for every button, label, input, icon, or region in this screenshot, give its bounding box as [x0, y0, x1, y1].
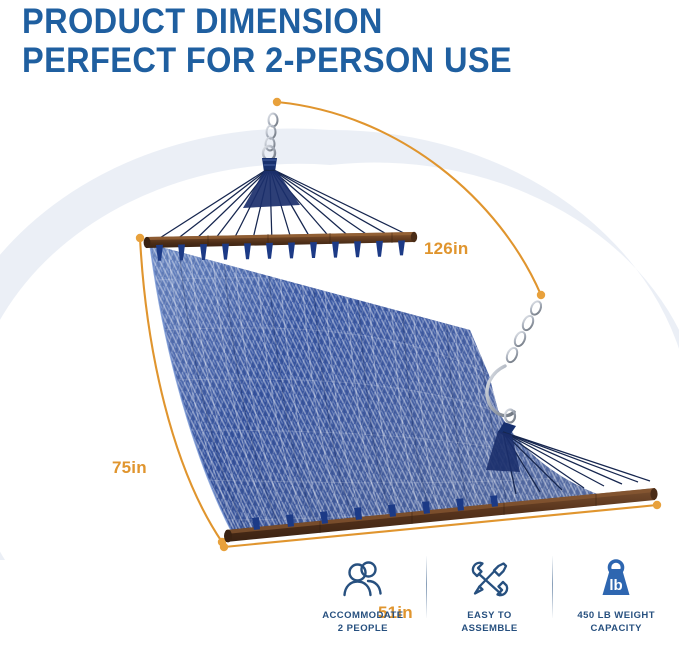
weight-lb-icon: lb [597, 556, 635, 602]
feature-accommodate-text: ACCOMMODATE 2 PEOPLE [322, 610, 403, 635]
feature-assembly: EASY TO ASSEMBLE [427, 552, 553, 635]
two-people-icon [342, 556, 384, 602]
feature-strip: ACCOMMODATE 2 PEOPLE E [300, 552, 679, 652]
wrench-screwdriver-icon [470, 556, 510, 602]
feature-weight-text: 450 LB WEIGHT CAPACITY [577, 610, 655, 635]
feature-accommodate-line1: ACCOMMODATE [322, 610, 403, 623]
headline-line-2: PERFECT FOR 2-PERSON USE [22, 41, 599, 80]
infographic-page: PRODUCT DIMENSION PERFECT FOR 2-PERSON U… [0, 0, 679, 658]
feature-assembly-text: EASY TO ASSEMBLE [461, 610, 517, 635]
feature-assembly-line2: ASSEMBLE [461, 623, 517, 636]
feature-accommodate: ACCOMMODATE 2 PEOPLE [300, 552, 426, 635]
hammock-body [120, 230, 640, 560]
dimension-label-126in: 126in [424, 239, 468, 259]
top-chain-hardware [262, 114, 278, 173]
feature-weight-line2: CAPACITY [577, 623, 655, 636]
page-title: PRODUCT DIMENSION PERFECT FOR 2-PERSON U… [22, 2, 642, 80]
product-illustration: 126in 75in 51in [0, 80, 679, 560]
feature-accommodate-line2: 2 PEOPLE [322, 623, 403, 636]
feature-weight-line1: 450 LB WEIGHT [577, 610, 655, 623]
feature-assembly-line1: EASY TO [461, 610, 517, 623]
dimension-label-75in: 75in [112, 458, 147, 478]
headline-line-1: PRODUCT DIMENSION [22, 2, 599, 41]
feature-weight-capacity: lb 450 LB WEIGHT CAPACITY [553, 552, 679, 635]
svg-text:lb: lb [610, 577, 623, 594]
